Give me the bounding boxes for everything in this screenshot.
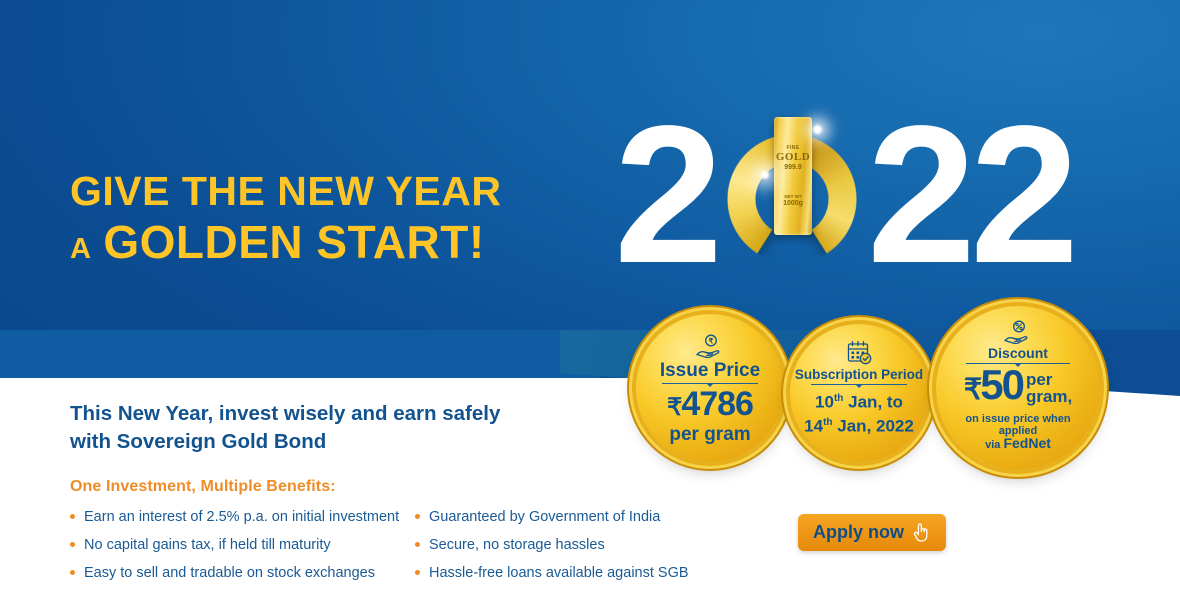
coin-divider	[811, 384, 907, 385]
blue-left-band	[0, 330, 600, 380]
hand-holding-rupee-icon: ₹	[695, 334, 725, 358]
coin-amount-value: 4786	[681, 385, 753, 423]
headline-article: A	[70, 233, 91, 265]
year-digit-1: 2	[614, 105, 717, 285]
coin-discount: Discount ₹50 pergram, on issue price whe…	[936, 306, 1100, 470]
benefit-text: Earn an interest of 2.5% p.a. on initial…	[84, 503, 399, 531]
coin-amount-row: ₹50 pergram,	[936, 365, 1100, 410]
coin-dates: 10th Jan, to 14th Jan, 2022	[790, 389, 928, 436]
calendar-check-icon	[845, 340, 873, 366]
fine-line-1: on issue price when	[936, 413, 1100, 425]
bullet-dot-icon	[415, 514, 420, 519]
list-item: Guaranteed by Government of India	[415, 503, 745, 531]
bullet-dot-icon	[415, 570, 420, 575]
sub-headline-line-1: This New Year, invest wisely and earn sa…	[70, 400, 590, 428]
per-line-2: gram,	[1026, 388, 1072, 405]
apply-now-label: Apply now	[813, 522, 904, 543]
benefits-lists: Earn an interest of 2.5% p.a. on initial…	[70, 503, 745, 587]
date-1-day: 10	[815, 393, 834, 412]
coin-issue-price: ₹ Issue Price ₹4786 per gram	[636, 314, 784, 462]
pointing-hand-cursor-icon	[911, 522, 931, 543]
list-item: Hassle-free loans available against SGB	[415, 559, 745, 587]
date-2-day: 14	[804, 416, 823, 435]
coin-subscription-period: Subscription Period 10th Jan, to 14th Ja…	[790, 324, 928, 462]
fednet-brand: FedNet	[1003, 435, 1050, 451]
headline: GIVE THE NEW YEAR A GOLDEN START!	[70, 166, 590, 275]
date-2-rest: Jan, 2022	[833, 416, 914, 435]
gold-power-symbol-zero: FINEGOLD999.9NET WT1000g	[717, 105, 867, 285]
bullet-dot-icon	[70, 514, 75, 519]
coin-title: Discount	[936, 345, 1100, 361]
benefit-text: Secure, no storage hassles	[429, 531, 605, 559]
list-item: Easy to sell and tradable on stock excha…	[70, 559, 415, 587]
gold-bar-line-5: 1000g	[774, 200, 812, 207]
per-line-1: per	[1026, 371, 1072, 388]
coin-amount: ₹50	[964, 365, 1023, 410]
rupee-symbol: ₹	[964, 374, 980, 406]
headline-line-2: A GOLDEN START!	[70, 216, 590, 275]
date-1-suffix: th	[834, 393, 843, 404]
benefits-heading: One Investment, Multiple Benefits:	[70, 478, 336, 496]
list-item: Earn an interest of 2.5% p.a. on initial…	[70, 503, 415, 531]
fine-line-3-prefix: via	[985, 439, 1003, 451]
coin-amount: ₹4786	[636, 387, 784, 425]
year-digit-4: 2	[970, 105, 1073, 285]
coin-title: Subscription Period	[790, 367, 928, 382]
coin-date-line-2: 14th Jan, 2022	[790, 413, 928, 437]
benefit-text: Guaranteed by Government of India	[429, 503, 660, 531]
svg-text:₹: ₹	[709, 336, 714, 345]
bullet-dot-icon	[415, 542, 420, 547]
benefits-column-right: Guaranteed by Government of India Secure…	[415, 503, 745, 587]
benefit-text: No capital gains tax, if held till matur…	[84, 531, 331, 559]
apply-now-button[interactable]: Apply now	[798, 514, 946, 551]
benefits-column-left: Earn an interest of 2.5% p.a. on initial…	[70, 503, 415, 587]
hand-holding-percent-icon	[1003, 320, 1033, 344]
gold-bar-line-4: NET WT	[774, 194, 812, 199]
sgb-promo-banner: GIVE THE NEW YEAR A GOLDEN START! 2FINEG…	[0, 0, 1180, 600]
year-digit-3: 2	[867, 105, 970, 285]
date-2-suffix: th	[823, 417, 832, 428]
coin-fine-print: on issue price when applied via FedNet	[936, 413, 1100, 451]
gold-bar-line-3: 999.9	[774, 164, 812, 171]
gold-bar-line-2: GOLD	[774, 151, 812, 163]
coin-amount-value: 50	[980, 361, 1023, 408]
date-1-rest: Jan, to	[843, 393, 903, 412]
coin-title: Issue Price	[636, 360, 784, 381]
sparkle-icon-1	[813, 125, 822, 134]
sub-headline: This New Year, invest wisely and earn sa…	[70, 400, 590, 456]
list-item: Secure, no storage hassles	[415, 531, 745, 559]
coin-divider	[966, 363, 1070, 364]
sparkle-icon-2	[761, 171, 769, 179]
list-item: No capital gains tax, if held till matur…	[70, 531, 415, 559]
benefit-text: Easy to sell and tradable on stock excha…	[84, 559, 375, 587]
bullet-dot-icon	[70, 542, 75, 547]
coin-date-line-1: 10th Jan, to	[790, 389, 928, 413]
headline-emphasis: GOLDEN START!	[103, 216, 484, 268]
bullet-dot-icon	[70, 570, 75, 575]
rupee-symbol: ₹	[667, 394, 681, 421]
year-2022: 2FINEGOLD999.9NET WT1000g22	[614, 105, 1073, 285]
gold-bar-icon: FINEGOLD999.9NET WT1000g	[774, 117, 812, 235]
headline-line-1: GIVE THE NEW YEAR	[70, 166, 590, 216]
coin-per-gram: pergram,	[1026, 371, 1072, 405]
coin-divider	[662, 383, 758, 384]
benefit-text: Hassle-free loans available against SGB	[429, 559, 689, 587]
sub-headline-line-2: with Sovereign Gold Bond	[70, 428, 590, 456]
